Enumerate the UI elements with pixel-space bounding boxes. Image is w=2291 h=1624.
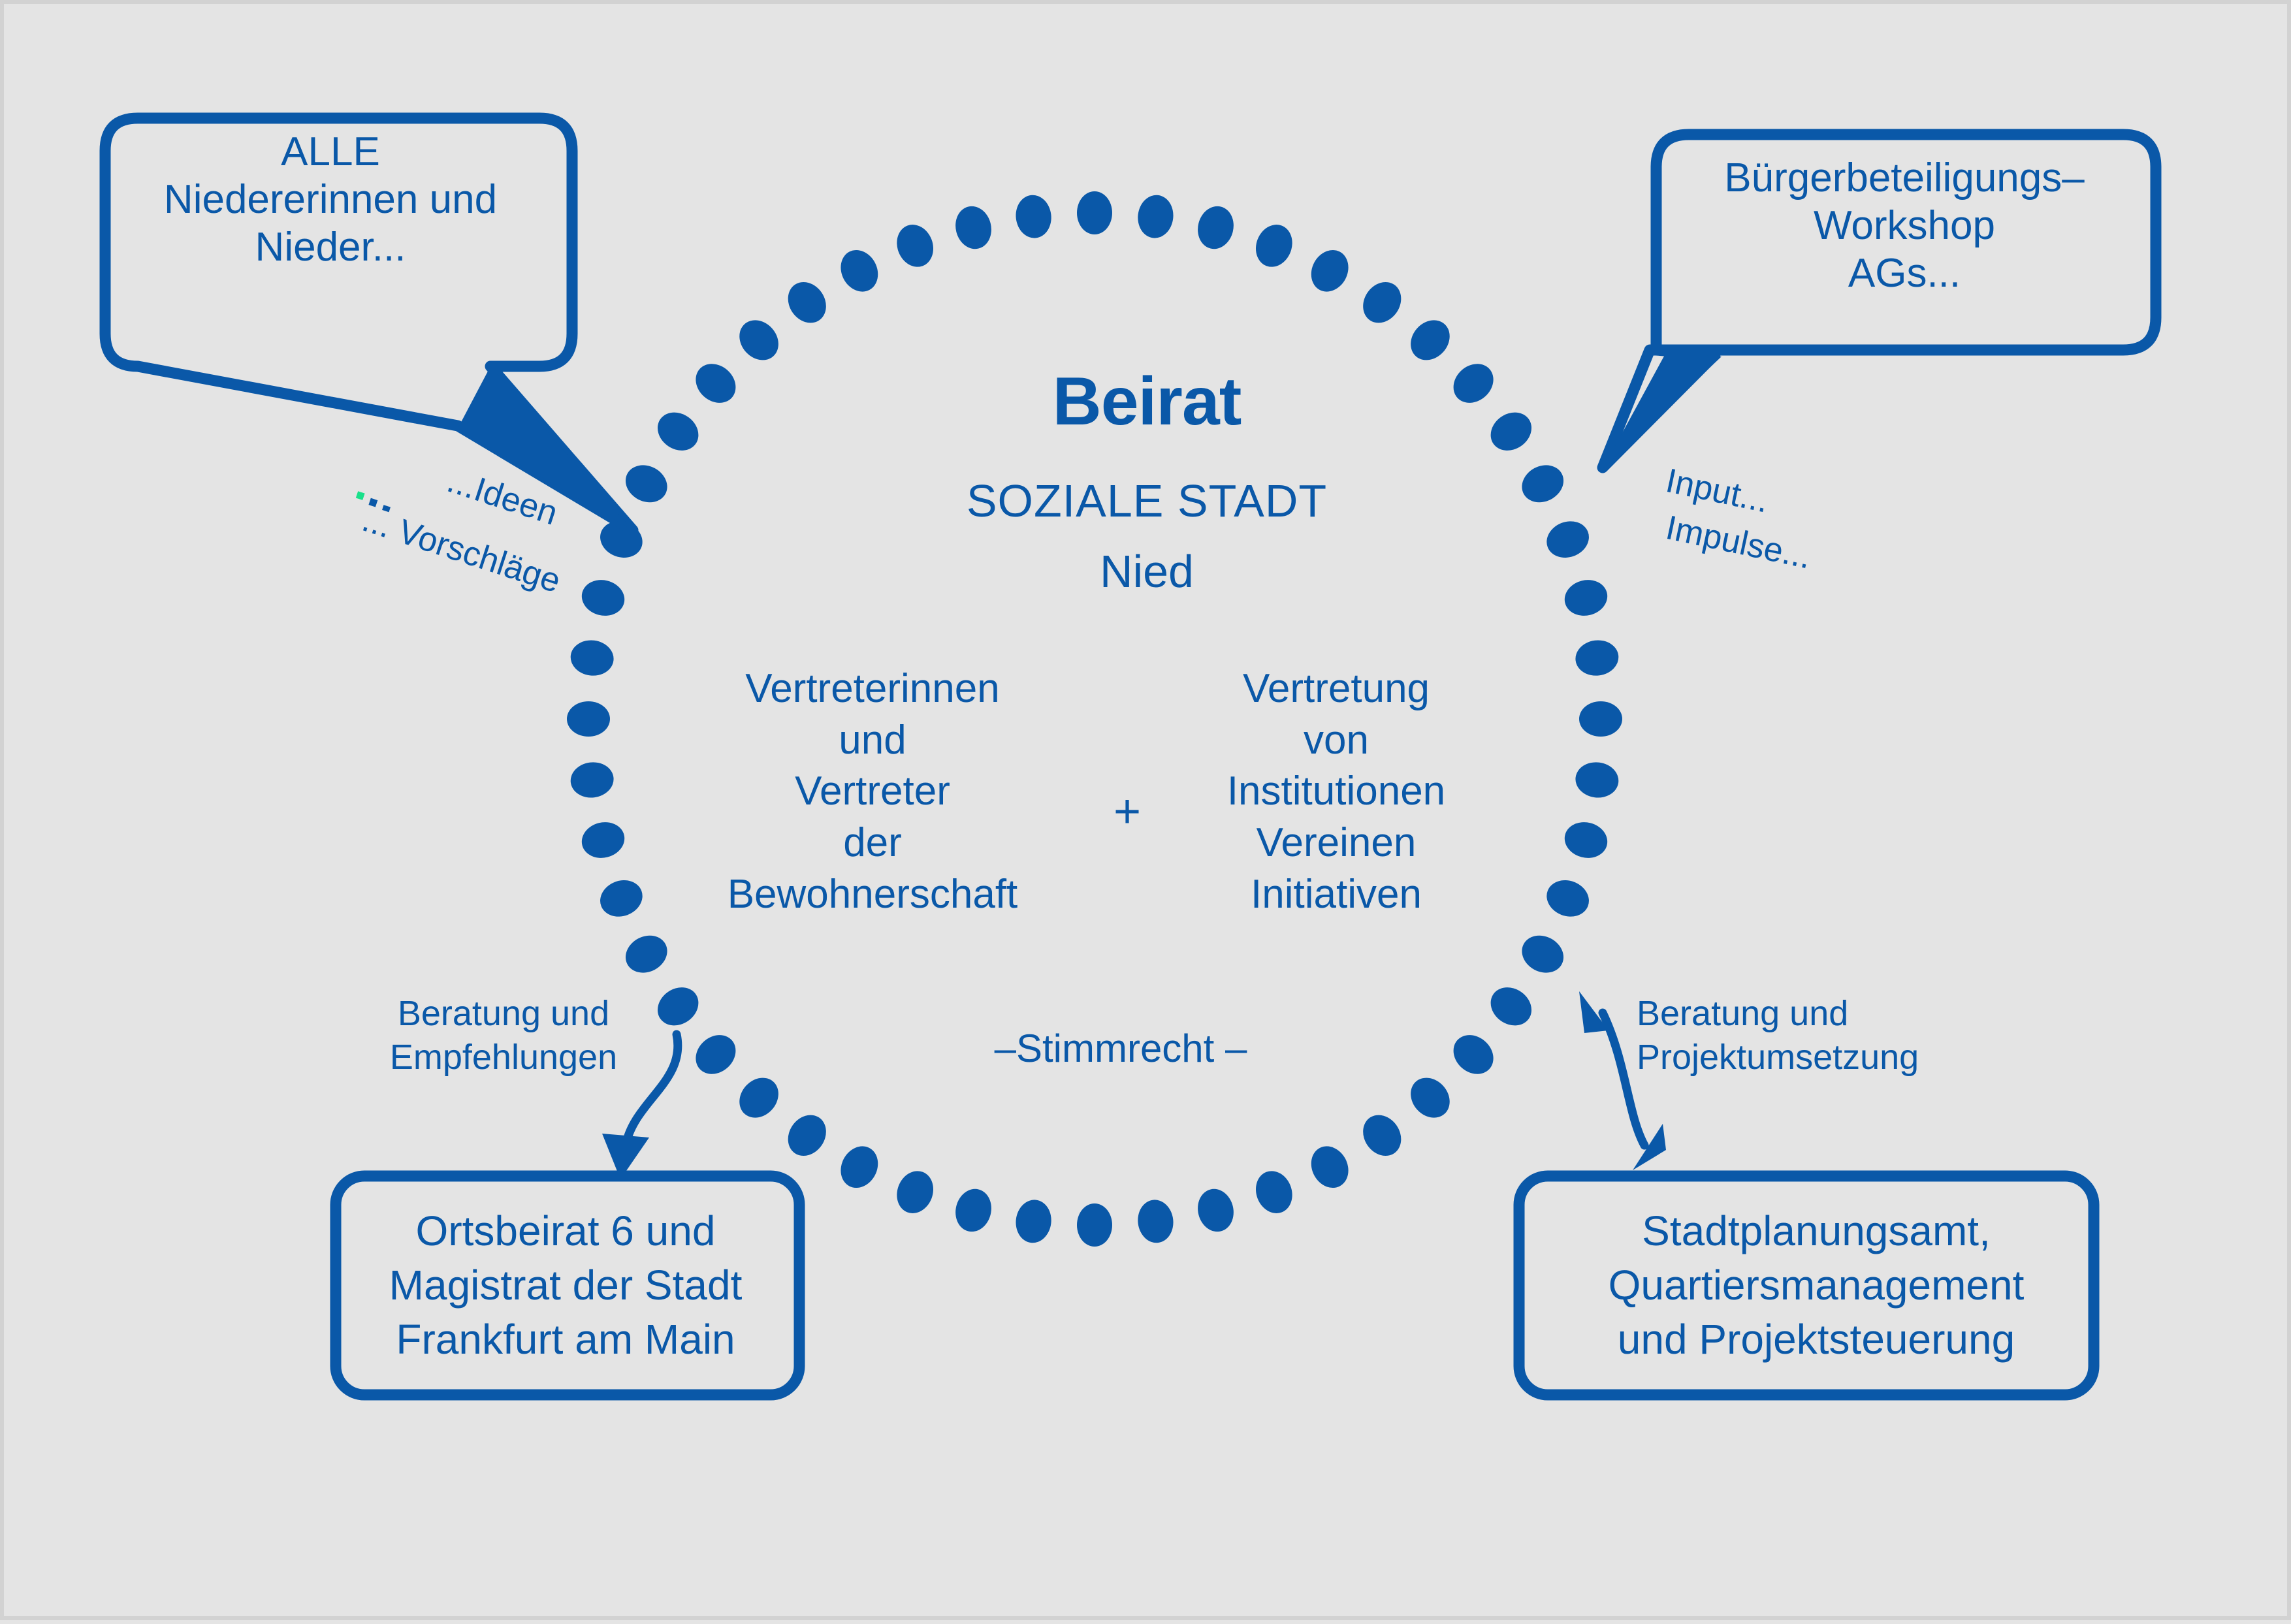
circle-dot: [569, 638, 616, 678]
circle-dot: [650, 979, 706, 1033]
circle-dot: [891, 219, 939, 272]
circle-dot: [578, 818, 628, 862]
circle-dot: [569, 760, 616, 801]
circle-dot: [1014, 1198, 1054, 1245]
circle-dot: [619, 929, 674, 979]
center-column-right: Vertretung von Institutionen Vereinen In…: [1199, 663, 1473, 921]
circle-dot: [1355, 1107, 1409, 1163]
circle-dot: [834, 244, 885, 298]
circle-dot: [1250, 1166, 1298, 1218]
circle-dot: [1403, 312, 1458, 368]
center-subtitle-line2: Nied: [788, 545, 1506, 599]
arrow-label-bottom-right: Beratung und Projektumsetzung: [1637, 992, 1983, 1079]
circle-dot: [567, 701, 610, 737]
circle-dot: [1136, 193, 1176, 240]
plus-symbol: +: [1075, 784, 1179, 840]
circle-dot: [891, 1166, 939, 1218]
box-bottom-left-label: Ortsbeirat 6 und Magistrat der Stadt Fra…: [340, 1204, 791, 1367]
center-subtitle-line1: SOZIALE STADT: [788, 474, 1506, 528]
stimmrecht-note: –Stimmrecht –: [918, 1026, 1323, 1072]
circle-dot: [731, 312, 786, 368]
circle-dot: [1515, 929, 1570, 979]
circle-dot: [780, 275, 834, 330]
box-bottom-right-label: Stadtplanungsamt, Quartiersmanagement un…: [1526, 1204, 2107, 1367]
circle-dot: [1355, 275, 1409, 330]
circle-dot: [1541, 515, 1594, 564]
circle-dot: [688, 1027, 743, 1082]
circle-dot: [1483, 979, 1539, 1033]
circle-dot: [1077, 1203, 1112, 1247]
speech-bubble-top-right-label: Bürgerbeteiligungs– Workshop AGs...: [1682, 154, 2126, 297]
circle-dot: [1077, 191, 1112, 234]
center-column-left: Vertreterinnen und Vertreter der Bewohne…: [696, 663, 1049, 921]
circle-dot: [1403, 1070, 1458, 1125]
circle-dot: [1515, 458, 1570, 509]
circle-dot: [834, 1139, 885, 1194]
circle-dot: [650, 405, 706, 458]
diagram-canvas: ALLE Niedererinnen und Nieder... Bürgerb…: [0, 0, 2291, 1620]
circle-dot: [619, 458, 674, 509]
circle-dot: [1304, 1139, 1355, 1194]
circle-dot: [1561, 575, 1611, 620]
circle-dot: [1193, 1185, 1238, 1235]
circle-dot: [688, 356, 743, 411]
circle-dot: [1304, 244, 1355, 298]
circle-dot: [1541, 874, 1594, 923]
circle-dot: [1561, 818, 1611, 862]
speech-bubble-top-left-label: ALLE Niedererinnen und Nieder...: [102, 128, 559, 271]
circle-dot: [951, 202, 995, 253]
circle-dot: [1193, 202, 1238, 253]
circle-dot: [1445, 1027, 1501, 1082]
circle-dot: [1573, 638, 1620, 678]
circle-dot: [1573, 760, 1620, 801]
circle-dot: [1579, 701, 1622, 737]
circle-dot: [1136, 1198, 1176, 1245]
circle-dot: [780, 1107, 834, 1163]
circle-dot: [595, 874, 648, 923]
circle-dot: [731, 1070, 786, 1125]
circle-dot: [1014, 193, 1054, 240]
circle-dot: [951, 1185, 995, 1235]
arrow-label-bottom-left: Beratung und Empfehlungen: [350, 992, 657, 1079]
page-title: Beirat: [788, 362, 1506, 442]
circle-dot: [1250, 219, 1298, 272]
